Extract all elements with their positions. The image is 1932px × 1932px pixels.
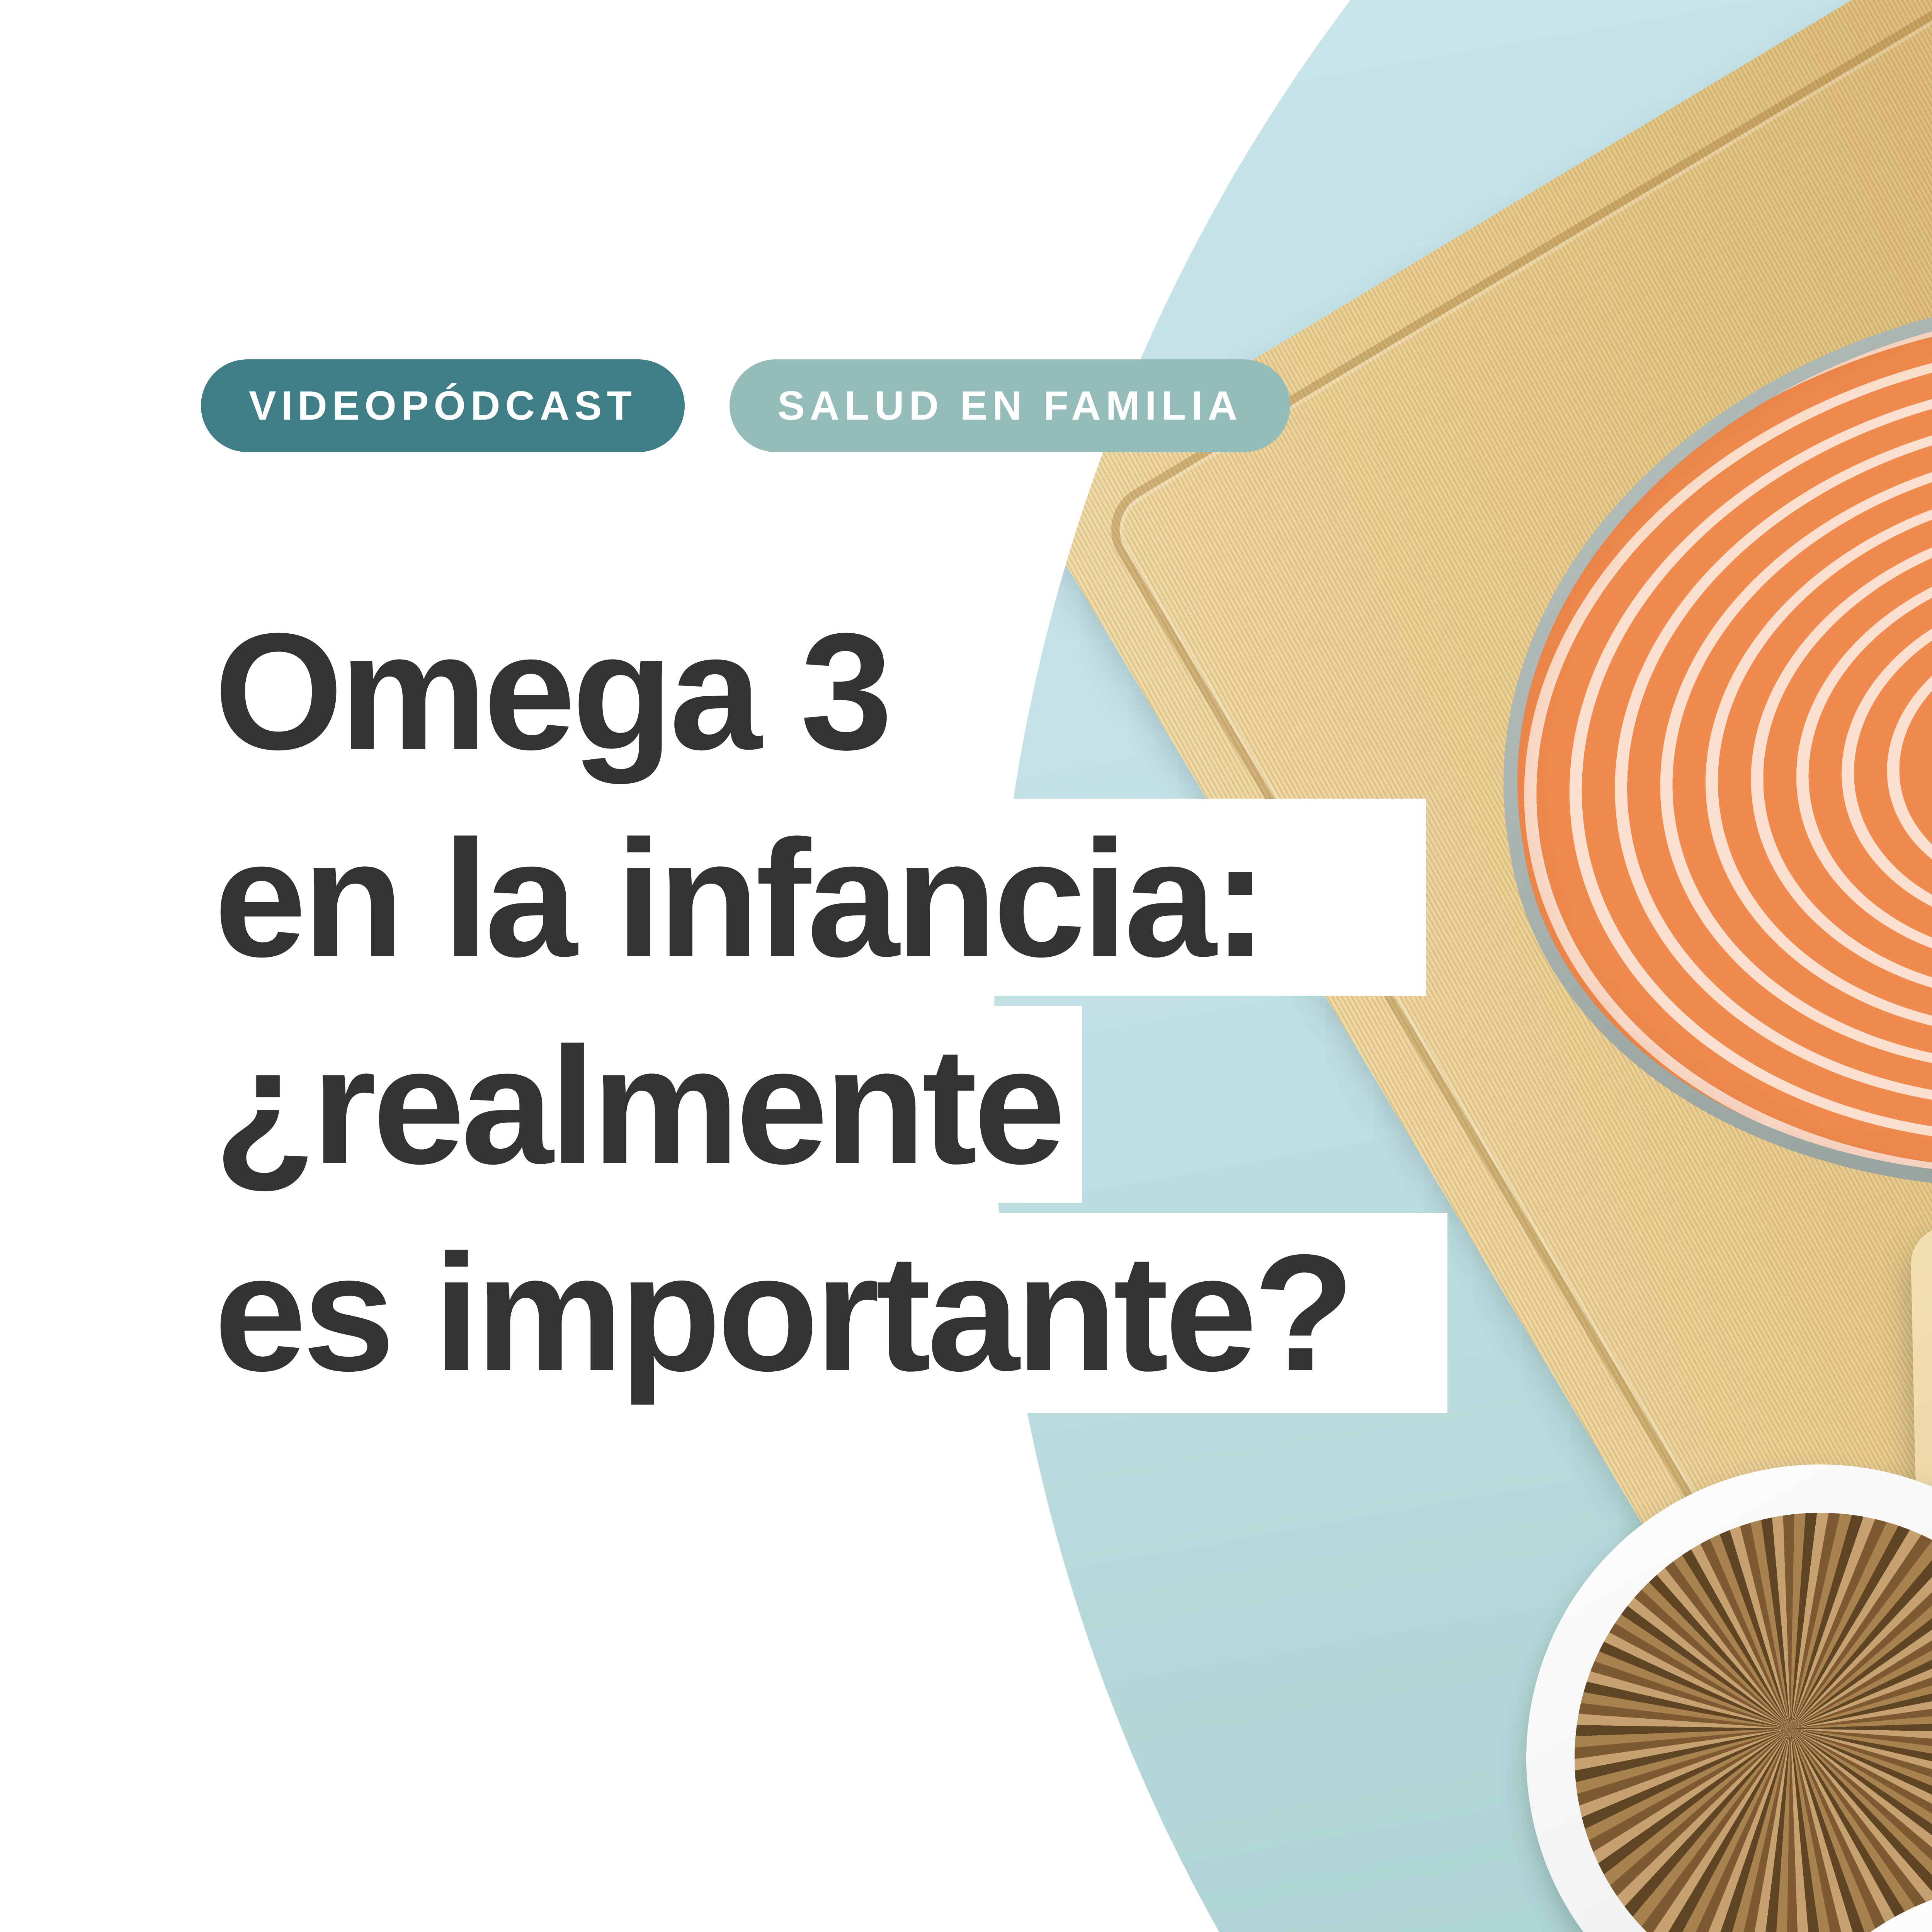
badge-videopodcast[interactable]: VIDEOPÓDCAST [201, 359, 685, 452]
title-line-2: en la infancia: [201, 799, 1426, 996]
title-line-1: Omega 3 [201, 592, 909, 789]
flax-seed-bowl [1526, 1464, 1932, 1932]
title-line-3: ¿realmente [201, 1006, 1082, 1203]
badge-row: VIDEOPÓDCAST SALUD EN FAMILIA [201, 359, 1290, 452]
page-title: Omega 3 en la infancia: ¿realmente es im… [201, 592, 1447, 1413]
badge-salud-en-familia[interactable]: SALUD EN FAMILIA [730, 359, 1290, 452]
title-line-4: es importante? [201, 1213, 1447, 1413]
poster-canvas: OMEGA 3 VIDEOPÓDCAST SALUD EN FAMILIA [0, 0, 1932, 1932]
